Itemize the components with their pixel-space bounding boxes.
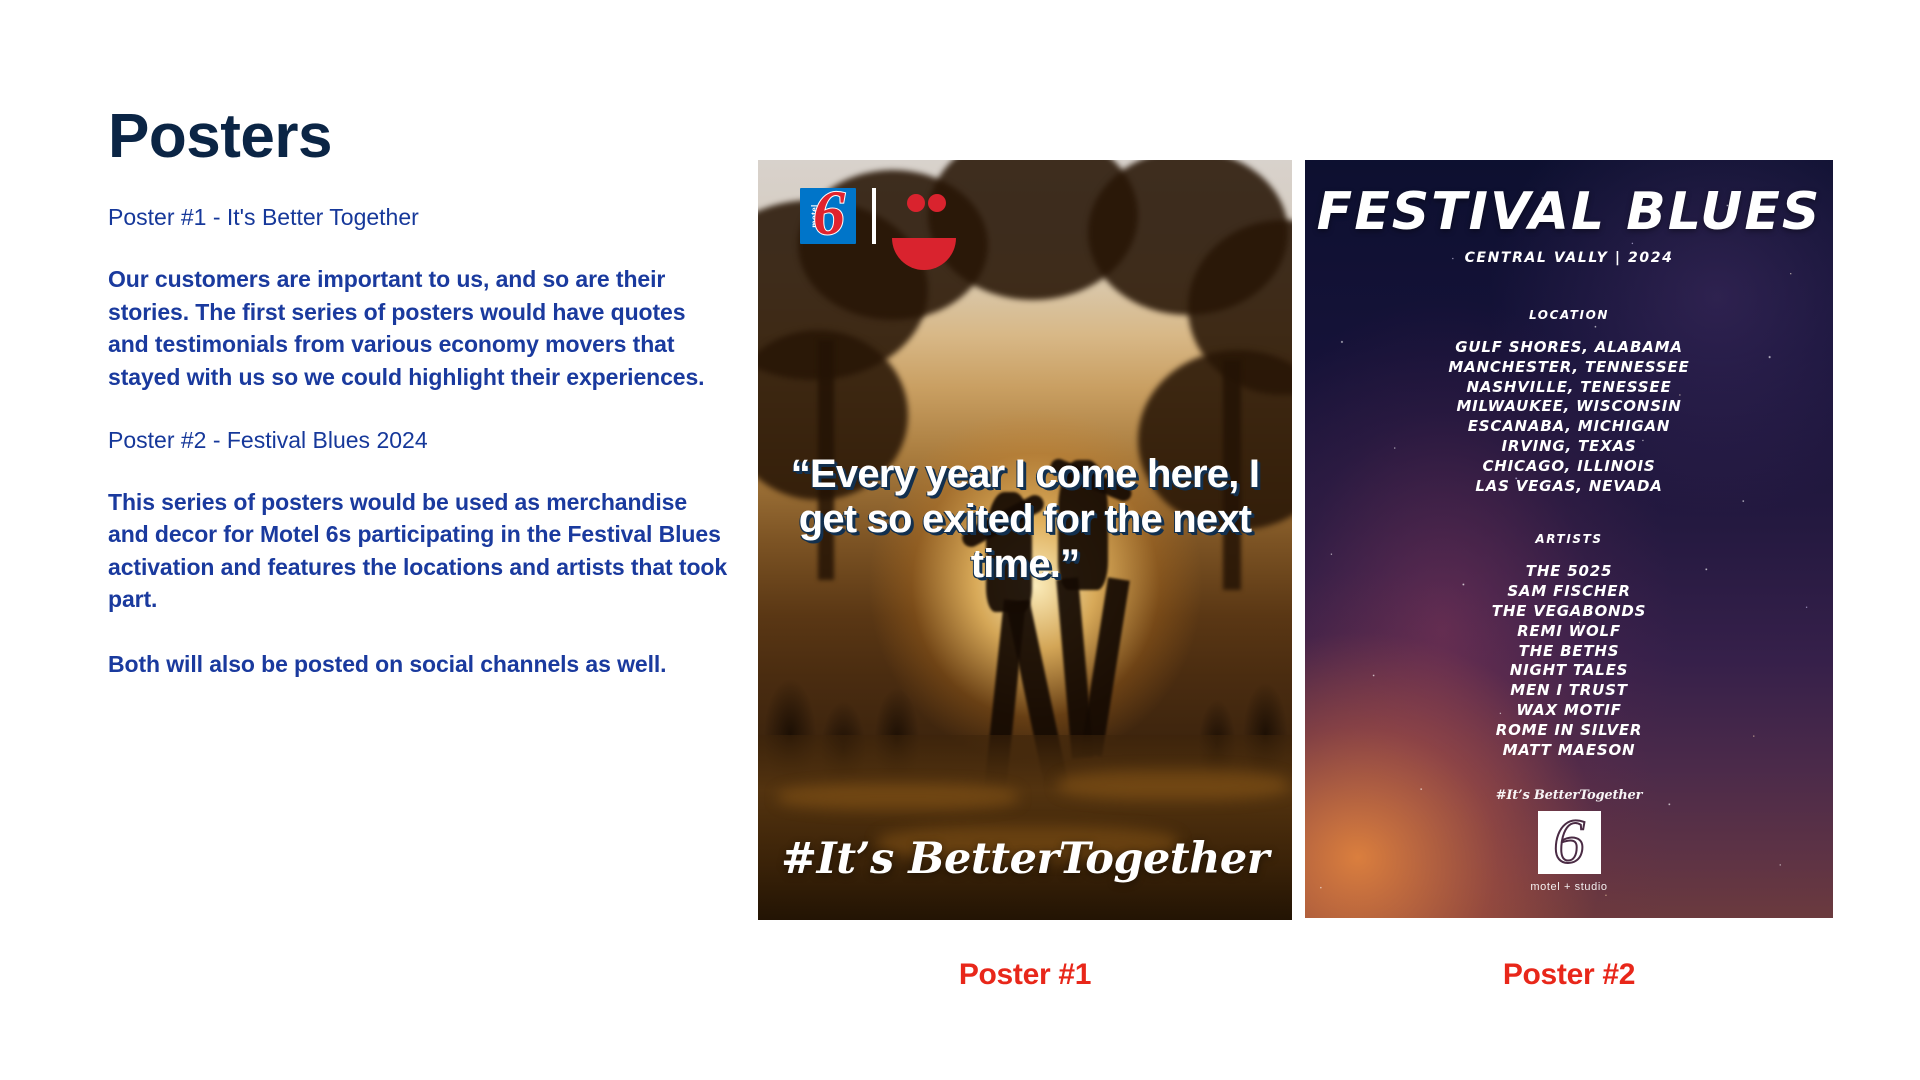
smiley-mouth-icon — [892, 206, 956, 270]
poster2-subheading: Poster #2 - Festival Blues 2024 — [108, 426, 728, 456]
motel6-logo-icon: motel 6 — [800, 188, 856, 244]
list-item: MATT MAESON — [1305, 741, 1833, 761]
motel6-studio-numeral: 6 — [1553, 811, 1585, 873]
list-item: THE BETHS — [1305, 642, 1833, 662]
ground-light-streak — [1058, 770, 1288, 800]
list-item: ROME IN SILVER — [1305, 721, 1833, 741]
poster2-subtitle: CENTRAL VALLY | 2024 — [1305, 250, 1833, 266]
location-section-label: LOCATION — [1305, 308, 1833, 322]
smiley-eye-left-icon — [907, 194, 925, 212]
motel6-studio-caption: motel + studio — [1530, 881, 1607, 893]
artist-list: THE 5025 SAM FISCHER THE VEGABONDS REMI … — [1305, 562, 1833, 760]
list-item: THE 5025 — [1305, 562, 1833, 582]
list-item: WAX MOTIF — [1305, 701, 1833, 721]
artists-section-label: ARTISTS — [1305, 532, 1833, 546]
social-note: Both will also be posted on social chann… — [108, 648, 728, 681]
list-item: THE VEGABONDS — [1305, 602, 1833, 622]
page-title: Posters — [108, 104, 728, 169]
location-list: GULF SHORES, ALABAMA MANCHESTER, TENNESS… — [1305, 338, 1833, 496]
poster2-title: FESTIVAL BLUES — [1305, 186, 1833, 238]
poster-1-image[interactable]: motel 6 “Every year I come here, I get s… — [758, 160, 1292, 920]
poster2-footer-lockup: #It’s BetterTogether 6 motel + studio — [1305, 788, 1833, 893]
motel6-studio-logo-icon: 6 — [1538, 811, 1601, 874]
poster2-caption: Poster #2 — [1305, 958, 1833, 992]
list-item: MEN I TRUST — [1305, 681, 1833, 701]
list-item: REMI WOLF — [1305, 622, 1833, 642]
list-item: MANCHESTER, TENNESSEE — [1305, 358, 1833, 378]
ground-light-streak — [778, 784, 1018, 810]
poster-2-image[interactable]: FESTIVAL BLUES CENTRAL VALLY | 2024 LOCA… — [1305, 160, 1833, 918]
poster1-description: Our customers are important to us, and s… — [108, 263, 728, 394]
poster2-hashtag: #It’s BetterTogether — [1496, 788, 1643, 803]
poster1-caption: Poster #1 — [758, 958, 1292, 992]
list-item: LAS VEGAS, NEVADA — [1305, 477, 1833, 497]
list-item: MILWAUKEE, WISCONSIN — [1305, 397, 1833, 417]
poster1-hashtag: #It’s BetterTogether — [758, 834, 1292, 884]
slide-text-column: Posters Poster #1 - It's Better Together… — [108, 104, 728, 681]
motel6-numeral: 6 — [813, 181, 845, 245]
list-item: CHICAGO, ILLINOIS — [1305, 457, 1833, 477]
list-item: SAM FISCHER — [1305, 582, 1833, 602]
poster1-logo-lockup: motel 6 — [800, 188, 956, 244]
logo-divider — [872, 188, 876, 244]
list-item: IRVING, TEXAS — [1305, 437, 1833, 457]
list-item: NIGHT TALES — [1305, 661, 1833, 681]
list-item: NASHVILLE, TENESSEE — [1305, 378, 1833, 398]
smiley-logo-icon — [892, 194, 956, 238]
poster2-description: This series of posters would be used as … — [108, 486, 728, 617]
list-item: GULF SHORES, ALABAMA — [1305, 338, 1833, 358]
poster1-quote: “Every year I come here, I get so exited… — [776, 452, 1274, 588]
poster1-subheading: Poster #1 - It's Better Together — [108, 203, 728, 233]
list-item: ESCANABA, MICHIGAN — [1305, 417, 1833, 437]
smiley-eye-right-icon — [928, 194, 946, 212]
